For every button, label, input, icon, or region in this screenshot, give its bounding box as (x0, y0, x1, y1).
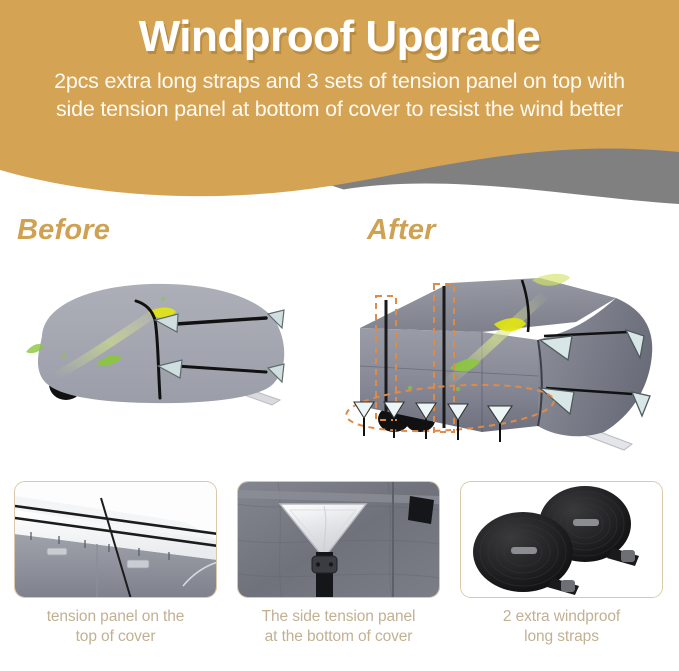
caption-line-1: 2 extra windproof (503, 608, 620, 625)
tension-panel-top-photo (15, 482, 217, 598)
thumbnail-tension-panel-top (14, 481, 217, 598)
after-rv-cover-illustration (332, 236, 679, 472)
strap-buckle-end (621, 550, 635, 562)
thumbnail-windproof-straps (460, 481, 663, 598)
buckle-tab (127, 560, 149, 568)
feature-panel-tension-top[interactable]: tension panel on the top of cover (14, 481, 217, 648)
side-tension-panel-photo (238, 482, 440, 598)
caption-line-2: at the bottom of cover (265, 628, 413, 645)
rv-cover-body-before (38, 284, 284, 403)
panel-caption-2: The side tension panel at the bottom of … (237, 607, 440, 648)
header-banner: Windproof Upgrade 2pcs extra long straps… (0, 0, 679, 215)
coiled-straps-photo (461, 482, 663, 598)
before-label: Before (17, 214, 110, 247)
strap-buckle (511, 547, 537, 554)
before-after-comparison: Before After (0, 196, 679, 472)
feature-panel-side-tension[interactable]: The side tension panel at the bottom of … (237, 481, 440, 648)
strap-buckle-end (561, 580, 575, 592)
caption-line-1: tension panel on the (47, 608, 185, 625)
product-feature-infographic: Windproof Upgrade 2pcs extra long straps… (0, 0, 679, 671)
page-subtitle: 2pcs extra long straps and 3 sets of ten… (50, 67, 630, 124)
caption-line-2: top of cover (76, 628, 156, 645)
thumbnail-side-tension-panel (237, 481, 440, 598)
caption-line-2: long straps (524, 628, 599, 645)
panel-caption-1: tension panel on the top of cover (14, 607, 217, 648)
rv-cover-roof-after (360, 278, 616, 332)
feature-thumbnails: tension panel on the top of cover (0, 481, 679, 671)
page-title: Windproof Upgrade (0, 0, 679, 61)
caption-line-1: The side tension panel (262, 608, 416, 625)
tension-panel-triangle (632, 392, 650, 416)
strap-buckle (573, 519, 599, 526)
feature-panel-long-straps[interactable]: 2 extra windproof long straps (460, 481, 663, 648)
before-rv-cover-illustration (0, 244, 320, 464)
buckle-tab (47, 548, 67, 555)
black-corner-pocket (408, 496, 434, 524)
panel-caption-3: 2 extra windproof long straps (460, 607, 663, 648)
strap-buckle (312, 556, 337, 573)
